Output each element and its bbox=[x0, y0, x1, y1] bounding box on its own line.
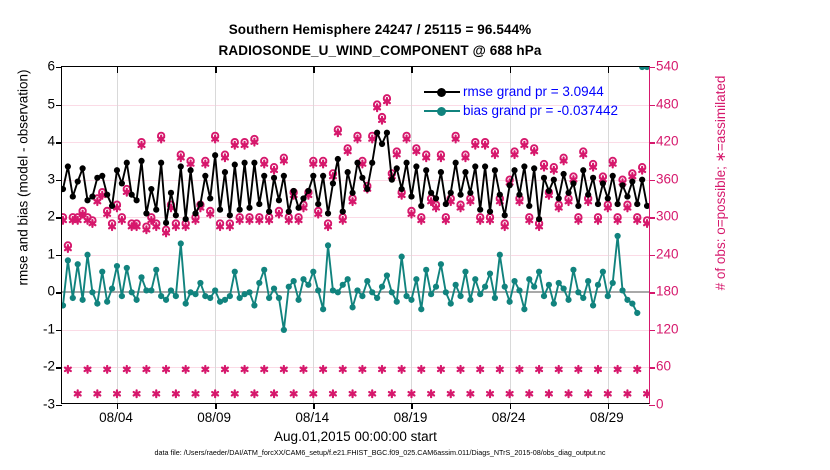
y-axis-right-tick bbox=[649, 330, 655, 331]
legend-line-marker-icon bbox=[424, 105, 460, 117]
chart-legend: rmse grand pr = 3.0944bias grand pr = -0… bbox=[420, 80, 622, 122]
x-axis-tick-label: 08/29 bbox=[590, 410, 624, 425]
low-count-obs-markers bbox=[65, 366, 649, 397]
y-axis-right-tick bbox=[649, 217, 655, 218]
y-axis-right-tick bbox=[649, 367, 655, 368]
x-axis-tick-label: 08/14 bbox=[295, 410, 329, 425]
y-axis-right-tick bbox=[649, 405, 655, 406]
x-axis-tick-label: 08/04 bbox=[99, 410, 133, 425]
x-axis-tick-label: 08/24 bbox=[492, 410, 526, 425]
x-axis-tick-label: 08/19 bbox=[394, 410, 428, 425]
x-axis-tick bbox=[608, 403, 609, 409]
y-axis-left-tick bbox=[56, 330, 62, 331]
x-axis-tick-top bbox=[215, 67, 216, 73]
y-axis-left-labels: 6543210-1-2-3 bbox=[0, 66, 55, 404]
x-axis-tick bbox=[313, 403, 314, 409]
legend-item-label: rmse grand pr = 3.0944 bbox=[463, 84, 604, 99]
y-axis-right-tick bbox=[649, 105, 655, 106]
x-axis-tick bbox=[510, 403, 511, 409]
y-axis-left-tick-label: 2 bbox=[47, 209, 55, 224]
legend-item: bias grand pr = -0.037442 bbox=[424, 101, 618, 120]
chart-title-line-2: RADIOSONDE_U_WIND_COMPONENT @ 688 hPa bbox=[0, 43, 760, 58]
y-axis-right-tick-label: 60 bbox=[656, 359, 671, 374]
y-axis-right-tick bbox=[649, 255, 655, 256]
y-axis-left-tick-label: -3 bbox=[43, 397, 55, 412]
y-axis-right-labels: 540480420360300240180120600 bbox=[656, 66, 716, 404]
y-axis-right-tick-label: 360 bbox=[656, 171, 679, 186]
y-axis-left-tick-label: -1 bbox=[43, 321, 55, 336]
y-axis-left-tick bbox=[56, 180, 62, 181]
y-axis-left-tick bbox=[56, 105, 62, 106]
y-axis-right-tick-label: 480 bbox=[656, 96, 679, 111]
y-axis-left-tick bbox=[56, 405, 62, 406]
x-axis-tick bbox=[411, 403, 412, 409]
x-axis-tick-top bbox=[510, 67, 511, 73]
x-axis-tick-label: 08/09 bbox=[197, 410, 231, 425]
legend-line-marker-icon bbox=[424, 86, 460, 98]
legend-item-label: bias grand pr = -0.037442 bbox=[463, 103, 618, 118]
legend-item: rmse grand pr = 3.0944 bbox=[424, 82, 618, 101]
y-axis-right-tick bbox=[649, 292, 655, 293]
y-axis-left-tick-label: 3 bbox=[47, 171, 55, 186]
data-file-footer: data file: /Users/raeder/DAI/ATM_forcXX/… bbox=[0, 448, 760, 457]
y-axis-right-tick-label: 0 bbox=[656, 397, 664, 412]
y-axis-right-tick-label: 420 bbox=[656, 134, 679, 149]
y-axis-left-tick bbox=[56, 67, 62, 68]
x-axis-tick-top bbox=[313, 67, 314, 73]
x-axis-title: Aug.01,2015 00:00:00 start bbox=[61, 429, 650, 444]
x-axis-tick-top bbox=[608, 67, 609, 73]
y-axis-right-tick-label: 120 bbox=[656, 321, 679, 336]
y-axis-left-tick bbox=[56, 292, 62, 293]
y-axis-left-tick-label: 0 bbox=[47, 284, 55, 299]
x-axis-tick-top bbox=[411, 67, 412, 73]
y-axis-right-tick bbox=[649, 180, 655, 181]
x-axis-tick bbox=[117, 403, 118, 409]
y-axis-left-tick bbox=[56, 255, 62, 256]
x-axis-tick bbox=[215, 403, 216, 409]
y-axis-right-tick bbox=[649, 67, 655, 68]
x-axis-tick-top bbox=[117, 67, 118, 73]
y-axis-left-tick bbox=[56, 367, 62, 368]
y-axis-right-tick bbox=[649, 142, 655, 143]
series-rmse bbox=[62, 130, 649, 226]
y-axis-right-tick-label: 240 bbox=[656, 246, 679, 261]
y-axis-left-tick-label: 4 bbox=[47, 134, 55, 149]
chart-title-line-1: Southern Hemisphere 24247 / 25115 = 96.5… bbox=[0, 22, 760, 37]
y-axis-left-tick bbox=[56, 142, 62, 143]
y-axis-left-tick-label: 5 bbox=[47, 96, 55, 111]
x-axis-labels: 08/0408/0908/1408/1908/2408/29 bbox=[61, 410, 650, 430]
y-axis-left-tick-label: -2 bbox=[43, 359, 55, 374]
y-axis-left-tick-label: 6 bbox=[47, 59, 55, 74]
y-axis-left-tick bbox=[56, 217, 62, 218]
y-axis-left-tick-label: 1 bbox=[47, 246, 55, 261]
y-axis-right-tick-label: 540 bbox=[656, 59, 679, 74]
y-axis-right-tick-label: 180 bbox=[656, 284, 679, 299]
y-axis-right-tick-label: 300 bbox=[656, 209, 679, 224]
